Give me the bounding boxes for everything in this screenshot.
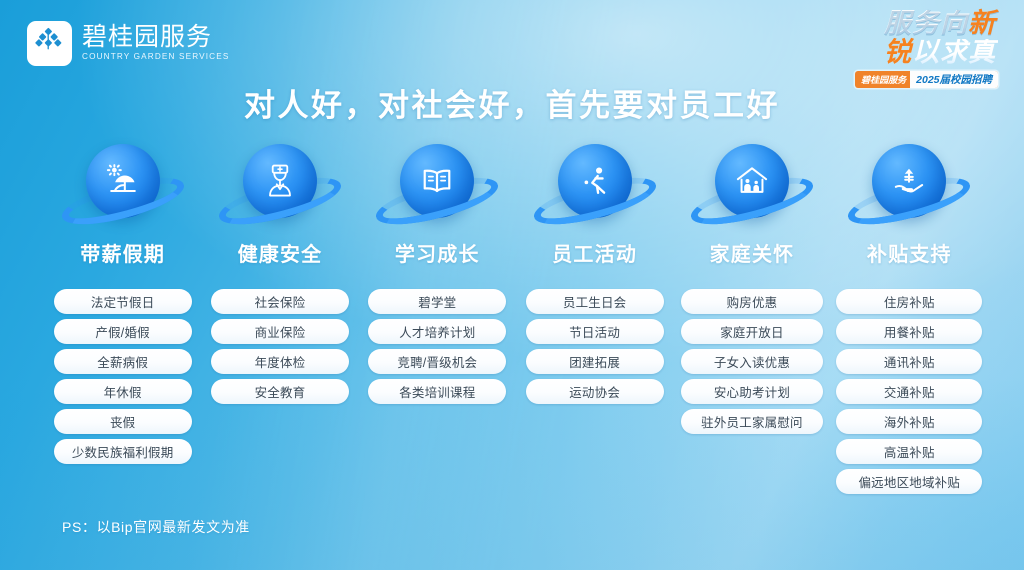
planet-badge: [373, 140, 501, 232]
benefit-pill[interactable]: 商业保险: [211, 319, 349, 344]
benefit-pill[interactable]: 驻外员工家属慰问: [681, 409, 823, 434]
diamond-tree-logo-icon: [35, 27, 65, 60]
campaign-slogan-line2: 锐以求真: [798, 39, 998, 67]
column-title: 补贴支持: [867, 238, 952, 267]
benefit-column-paid-leave: 带薪假期 法定节假日 产假/婚假 全薪病假 年休假 丧假 少数民族福利假期: [44, 140, 201, 494]
benefit-pill[interactable]: 少数民族福利假期: [54, 439, 192, 464]
benefit-pill[interactable]: 人才培养计划: [368, 319, 506, 344]
campaign-badge-brand: 碧桂园服务: [855, 71, 910, 88]
benefit-column-learning-growth: 学习成长 碧学堂 人才培养计划 竞聘/晋级机会 各类培训课程: [359, 140, 516, 494]
benefit-pill-list: 社会保险 商业保险 年度体检 安全教育: [211, 289, 349, 404]
benefit-columns: 带薪假期 法定节假日 产假/婚假 全薪病假 年休假 丧假 少数民族福利假期: [44, 140, 988, 494]
benefit-pill[interactable]: 全薪病假: [54, 349, 192, 374]
benefit-pill[interactable]: 团建拓展: [526, 349, 664, 374]
benefit-pill[interactable]: 年度体检: [211, 349, 349, 374]
benefit-pill[interactable]: 海外补贴: [836, 409, 982, 434]
column-title: 健康安全: [238, 238, 323, 267]
benefit-pill-list: 购房优惠 家庭开放日 子女入读优惠 安心助考计划 驻外员工家属慰问: [681, 289, 823, 434]
yuan-in-hand-icon: [889, 161, 929, 201]
benefit-pill[interactable]: 高温补贴: [836, 439, 982, 464]
column-title: 带薪假期: [80, 238, 165, 267]
benefit-pill[interactable]: 安心助考计划: [681, 379, 823, 404]
benefit-column-health-safety: 健康安全 社会保险 商业保险 年度体检 安全教育: [201, 140, 358, 494]
benefit-pill[interactable]: 通讯补贴: [836, 349, 982, 374]
benefit-pill[interactable]: 碧学堂: [368, 289, 506, 314]
benefit-pill[interactable]: 子女入读优惠: [681, 349, 823, 374]
campaign-lockup: 服务向新 锐以求真 碧桂园服务 2025届校园招聘: [798, 10, 998, 88]
benefit-column-family-care: 家庭关怀 购房优惠 家庭开放日 子女入读优惠 安心助考计划 驻外员工家属慰问: [673, 140, 830, 494]
brand-logo-mark: [27, 21, 72, 66]
benefit-pill[interactable]: 偏远地区地域补贴: [836, 469, 982, 494]
benefit-pill[interactable]: 员工生日会: [526, 289, 664, 314]
beach-vacation-icon: [103, 161, 143, 201]
benefit-pill[interactable]: 家庭开放日: [681, 319, 823, 344]
benefit-pill-list: 住房补贴 用餐补贴 通讯补贴 交通补贴 海外补贴 高温补贴 偏远地区地域补贴: [836, 289, 982, 494]
campaign-badge-recruit: 2025届校园招聘: [910, 71, 998, 88]
benefit-pill[interactable]: 住房补贴: [836, 289, 982, 314]
benefit-pill[interactable]: 丧假: [54, 409, 192, 434]
family-home-icon: [732, 161, 772, 201]
doctor-icon: [260, 161, 300, 201]
benefit-pill-list: 员工生日会 节日活动 团建拓展 运动协会: [526, 289, 664, 404]
column-title: 家庭关怀: [710, 238, 795, 267]
footer-note: PS：以Bip官网最新发文为准: [62, 517, 250, 537]
column-title: 员工活动: [552, 238, 637, 267]
benefit-pill-list: 法定节假日 产假/婚假 全薪病假 年休假 丧假 少数民族福利假期: [54, 289, 192, 464]
campaign-slogan-line1-accent: 新: [968, 8, 996, 39]
benefit-pill[interactable]: 交通补贴: [836, 379, 982, 404]
benefit-pill[interactable]: 产假/婚假: [54, 319, 192, 344]
benefit-pill[interactable]: 年休假: [54, 379, 192, 404]
brand-text: 碧桂园服务 COUNTRY GARDEN SERVICES: [82, 25, 229, 61]
brand-name-en: COUNTRY GARDEN SERVICES: [82, 53, 229, 61]
brand-name-cn: 碧桂园服务: [82, 25, 229, 50]
campaign-slogan-line1: 服务向新: [798, 10, 998, 38]
campaign-badge: 碧桂园服务 2025届校园招聘: [855, 71, 998, 88]
campaign-slogan-line1-plain: 服务向: [884, 8, 968, 39]
column-title: 学习成长: [395, 238, 480, 267]
planet-badge: [216, 140, 344, 232]
benefit-pill[interactable]: 购房优惠: [681, 289, 823, 314]
benefit-pill[interactable]: 用餐补贴: [836, 319, 982, 344]
open-book-icon: [417, 161, 457, 201]
benefit-column-employee-activities: 员工活动 员工生日会 节日活动 团建拓展 运动协会: [516, 140, 673, 494]
benefit-pill[interactable]: 社会保险: [211, 289, 349, 314]
benefit-pill[interactable]: 各类培训课程: [368, 379, 506, 404]
planet-badge: [845, 140, 973, 232]
benefit-pill[interactable]: 竞聘/晋级机会: [368, 349, 506, 374]
planet-badge: [531, 140, 659, 232]
planet-badge: [688, 140, 816, 232]
benefit-pill-list: 碧学堂 人才培养计划 竞聘/晋级机会 各类培训课程: [368, 289, 506, 404]
benefit-pill[interactable]: 安全教育: [211, 379, 349, 404]
planet-badge: [59, 140, 187, 232]
running-person-icon: [575, 161, 615, 201]
slide-canvas: 碧桂园服务 COUNTRY GARDEN SERVICES 服务向新 锐以求真 …: [0, 0, 1024, 570]
benefit-pill[interactable]: 运动协会: [526, 379, 664, 404]
benefit-pill[interactable]: 节日活动: [526, 319, 664, 344]
brand-lockup: 碧桂园服务 COUNTRY GARDEN SERVICES: [27, 21, 229, 66]
campaign-slogan-line2-plain: 以求真: [912, 37, 996, 68]
benefit-column-allowances: 补贴支持 住房补贴 用餐补贴 通讯补贴 交通补贴 海外补贴 高温补贴 偏远地区地…: [831, 140, 988, 494]
benefit-pill[interactable]: 法定节假日: [54, 289, 192, 314]
campaign-slogan-line2-accent: 锐: [884, 37, 912, 68]
